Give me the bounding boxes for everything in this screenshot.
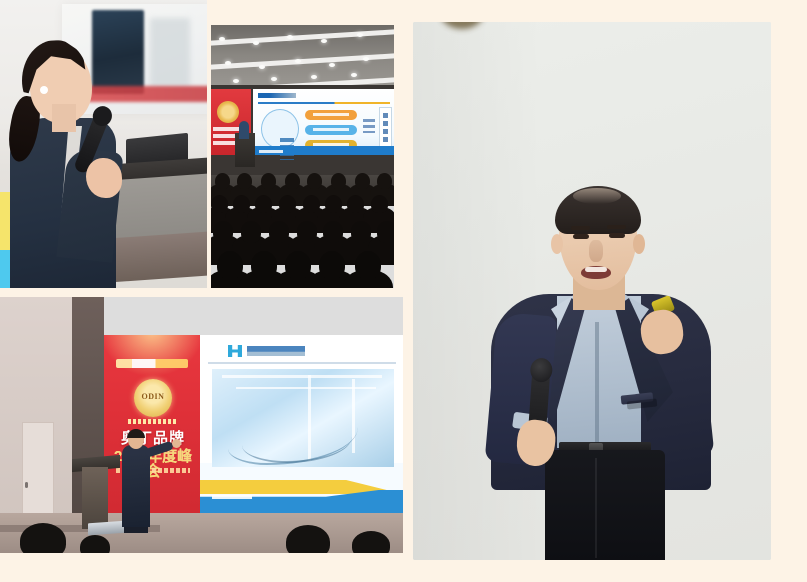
audience-member-head <box>251 251 277 279</box>
odin-logo-text: ODIN <box>134 392 172 401</box>
speaker-torso <box>122 445 150 527</box>
slide-website-url <box>212 495 252 499</box>
photo-stage-presenter[interactable]: ODIN 奥丁品牌 2024年度峰会 <box>0 297 403 553</box>
slide-right-panel <box>379 107 392 151</box>
presenter-earring <box>40 86 48 94</box>
audience-member-head <box>371 195 388 213</box>
audience-member-head <box>215 173 230 189</box>
trouser-crease <box>595 458 597 558</box>
slide-logo <box>258 93 296 98</box>
ceiling-light-icon <box>329 63 335 67</box>
presenter-neck <box>52 104 76 132</box>
slide-divider <box>258 102 390 104</box>
audience-member-head <box>377 173 392 189</box>
foreground-audience-head <box>286 525 330 553</box>
audience-member-head <box>285 173 300 189</box>
stage-lectern <box>82 467 108 529</box>
slide-right-label <box>383 113 388 145</box>
slide-divider <box>208 362 396 364</box>
audience-member-head <box>347 195 364 213</box>
ceiling-light-icon <box>357 33 363 37</box>
odin-logo-icon: ODIN <box>134 379 172 417</box>
photo-audience-hall[interactable]: Conference hall audience facing a large … <box>211 25 394 288</box>
audience-member-head <box>351 221 371 243</box>
audience-crowd <box>211 165 394 288</box>
audience-member-head <box>319 251 345 279</box>
photo-woman-presenter[interactable]: Female presenter speaking into a handhel… <box>0 0 207 288</box>
audience-member-head <box>355 251 381 279</box>
backdrop-sparkle <box>104 335 200 377</box>
backdrop-headline-strip <box>116 359 188 368</box>
speaker-nose <box>589 240 603 262</box>
audience-member-head <box>297 221 317 243</box>
slide-middle-label <box>363 119 375 133</box>
foreground-audience-head <box>352 531 390 553</box>
ceiling-light-icon <box>219 37 225 41</box>
stage-door <box>22 422 54 524</box>
company-name-text <box>247 346 305 356</box>
speaker-hairline <box>573 188 621 204</box>
odin-logo-icon <box>217 101 239 123</box>
audience-member-head <box>261 173 276 189</box>
hall-speaker-figure <box>239 121 249 139</box>
slide-photo-line <box>222 375 382 378</box>
speaker-mouth <box>581 266 611 279</box>
backdrop-subtitle-strip <box>128 419 178 424</box>
audience-member-head <box>331 173 346 189</box>
audience-member-head <box>255 195 272 213</box>
ceiling-light-icon <box>363 57 369 61</box>
speaker-eyebrow-right <box>607 225 626 229</box>
ceiling-light-icon <box>295 59 301 63</box>
foreground-audience-head <box>80 535 110 553</box>
shirt-placket <box>595 322 599 448</box>
presentation-slide <box>253 89 394 155</box>
audience-member-head <box>237 173 252 189</box>
ceiling-light-icon <box>321 39 327 43</box>
audience-member-head <box>307 173 322 189</box>
audience-member-head <box>217 251 243 279</box>
audience-member-head <box>325 195 342 213</box>
hall-ceiling <box>211 25 394 87</box>
audience-member-head <box>285 251 311 279</box>
ceiling-light-icon <box>225 61 231 65</box>
company-logo-icon <box>228 345 242 357</box>
ceiling-light-icon <box>259 65 265 69</box>
screen-blur-shape <box>150 18 190 88</box>
speaker-eye-right <box>609 233 625 238</box>
audience-member-head <box>303 195 320 213</box>
presenter-hand <box>86 158 122 198</box>
ceiling-light-icon <box>233 79 239 83</box>
screen-red-band <box>78 86 207 102</box>
ceiling-light-icon <box>311 75 317 79</box>
audience-member-head <box>213 221 233 243</box>
ceiling-beam <box>211 29 394 47</box>
audience-member-head <box>377 221 394 243</box>
out-of-focus-object <box>439 22 485 30</box>
backdrop-title-line-1: 奥丁品牌 <box>110 431 196 446</box>
audience-member-head <box>269 221 289 243</box>
audience-member-head <box>211 195 228 213</box>
speaker-ear-right <box>633 234 645 254</box>
slide-photo-line <box>236 387 376 389</box>
audience-member-head <box>323 221 343 243</box>
stage-presentation-slide <box>200 335 403 513</box>
foreground-audience-head <box>20 523 66 553</box>
ceiling-light-icon <box>351 73 357 77</box>
slide-box-orange <box>305 110 357 120</box>
slide-footer-url <box>259 150 283 153</box>
slide-equipment-photo <box>212 369 394 467</box>
speaker-trousers <box>545 450 665 560</box>
ceiling-beam <box>211 53 394 71</box>
audience-member-head <box>279 195 296 213</box>
ceiling-light-icon <box>271 77 277 81</box>
ceiling-light-icon <box>287 35 293 39</box>
speaker-eyebrow-left <box>571 226 590 230</box>
slide-oval-shape <box>261 109 299 149</box>
slide-footer-bar <box>253 146 394 155</box>
audience-member-head <box>233 195 250 213</box>
speaker-hand <box>172 439 181 448</box>
screen-dark-panel <box>92 10 144 94</box>
photo-collage: Female presenter speaking into a handhel… <box>0 0 807 582</box>
speaker-eye-left <box>573 234 589 239</box>
door-handle-icon <box>25 482 28 488</box>
ceiling-light-icon <box>253 41 259 45</box>
red-event-backdrop: ODIN 奥丁品牌 2024年度峰会 <box>104 335 200 513</box>
audience-member-head <box>241 221 261 243</box>
photo-man-microphone[interactable]: Man in a navy blazer and light blue shir… <box>413 22 771 560</box>
audience-member-head <box>355 173 370 189</box>
slide-photo-hose <box>242 419 352 463</box>
slide-box-blue <box>305 125 357 135</box>
speaker-ear-left <box>551 234 563 254</box>
